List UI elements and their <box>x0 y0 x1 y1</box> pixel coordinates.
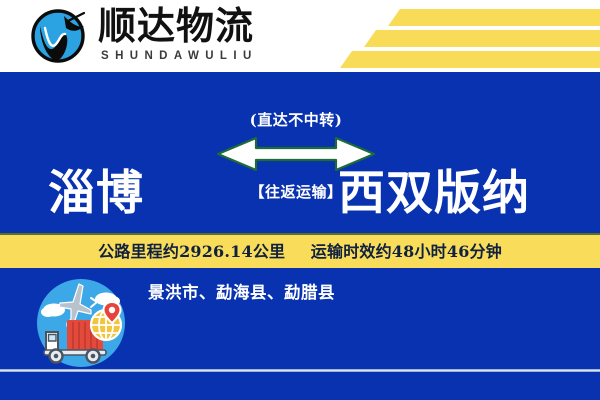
direct-service-note: (直达不中转) <box>216 110 376 130</box>
brand-lockup: 顺达物流 SHUNDAWULIU <box>28 4 258 68</box>
stripe-1 <box>388 9 600 26</box>
distance-text: 公路里程约2926.14公里 <box>98 242 285 261</box>
stripe-3 <box>340 51 600 68</box>
info-banner: 公路里程约2926.14公里 运输时效约48小时46分钟 <box>0 233 600 268</box>
brand-text-block: 顺达物流 SHUNDAWULIU <box>98 4 258 63</box>
logistics-route-poster: 顺达物流 SHUNDAWULIU 淄博 (直达不中转) 【往返运输】 西双版纳 <box>0 0 600 400</box>
logistics-truck-plane-globe-icon <box>34 276 128 370</box>
route-band: 淄博 (直达不中转) 【往返运输】 西双版纳 <box>0 72 600 233</box>
poster-header: 顺达物流 SHUNDAWULIU <box>0 0 600 72</box>
info-banner-text: 公路里程约2926.14公里 运输时效约48小时46分钟 <box>98 242 502 262</box>
origin-city: 淄博 <box>48 168 144 220</box>
header-yellow-stripes <box>310 0 600 72</box>
brand-name-cn: 顺达物流 <box>98 4 258 48</box>
shunda-circle-w-logo-icon <box>28 4 92 68</box>
footer-divider <box>0 369 600 372</box>
brand-name-en: SHUNDAWULIU <box>98 49 258 63</box>
duration-text: 运输时效约48小时46分钟 <box>311 242 502 261</box>
stripe-2 <box>364 30 600 47</box>
coverage-areas-text: 景洪市、勐海县、勐腊县 <box>148 282 335 304</box>
coverage-section: 景洪市、勐海县、勐腊县 <box>0 268 600 400</box>
destination-city: 西双版纳 <box>338 168 530 220</box>
